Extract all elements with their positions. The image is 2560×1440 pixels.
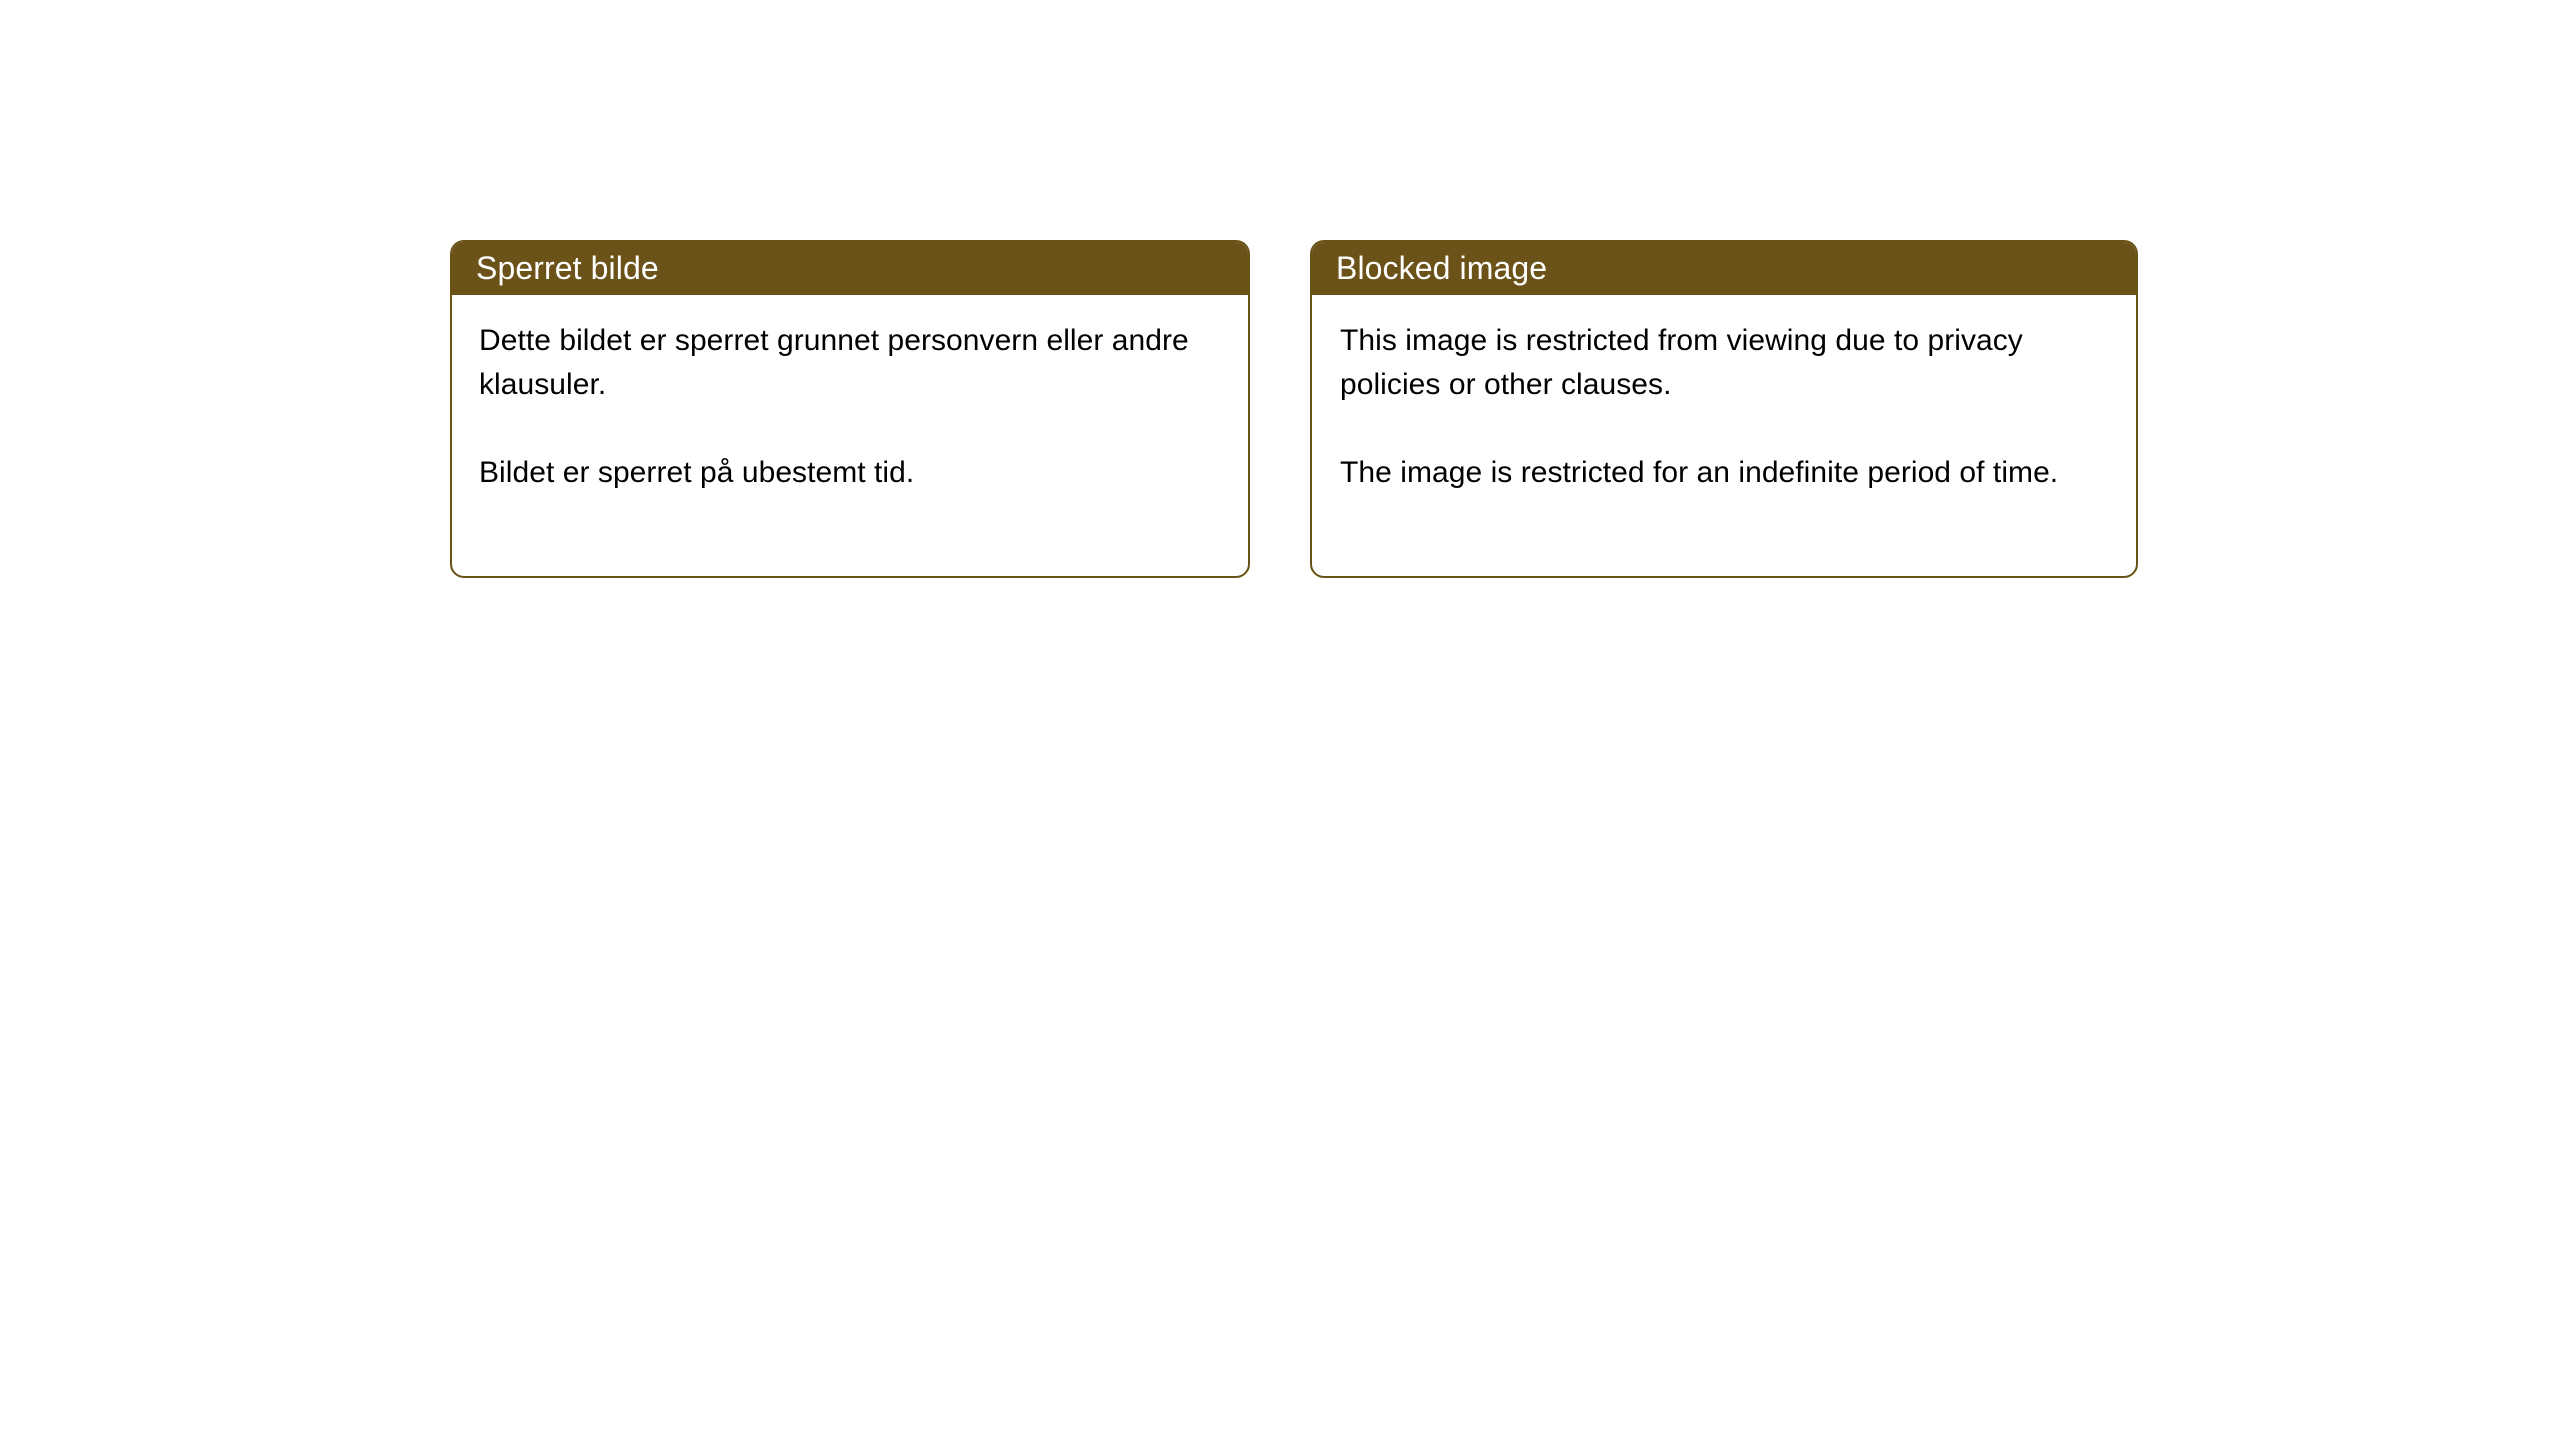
card-title-no: Sperret bilde [476,252,659,284]
card-paragraph-en-2: The image is restricted for an indefinit… [1340,451,2116,495]
card-body-en: This image is restricted from viewing du… [1312,295,2136,495]
card-title-en: Blocked image [1336,252,1547,284]
card-paragraph-no-2: Bildet er sperret på ubestemt tid. [479,451,1226,495]
card-body-no: Dette bildet er sperret grunnet personve… [452,295,1248,495]
card-header-en: Blocked image [1311,241,2137,295]
card-header-no: Sperret bilde [451,241,1249,295]
card-paragraph-en-1: This image is restricted from viewing du… [1340,319,2116,407]
blocked-image-notice-card-en: Blocked image This image is restricted f… [1310,240,2138,578]
blocked-image-notice-card-no: Sperret bilde Dette bildet er sperret gr… [450,240,1250,578]
page-root: Sperret bilde Dette bildet er sperret gr… [0,0,2560,1440]
card-paragraph-no-1: Dette bildet er sperret grunnet personve… [479,319,1226,407]
